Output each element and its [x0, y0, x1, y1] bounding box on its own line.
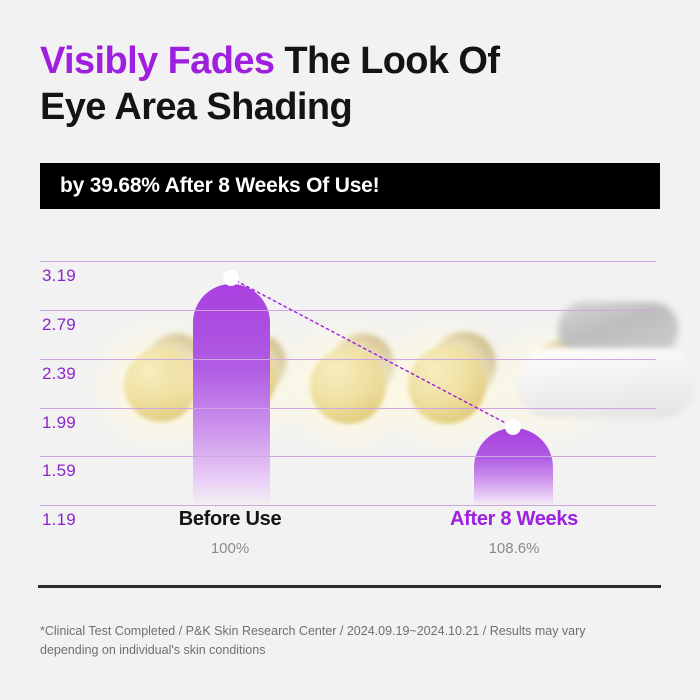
page-title: Visibly Fades The Look Of Eye Area Shadi… [40, 38, 660, 131]
headline-rest-line1: The Look Of [274, 40, 499, 82]
x-axis-label-after: After 8 Weeks [404, 508, 624, 531]
data-point-marker-after [505, 419, 521, 435]
x-axis-label-before: Before Use [120, 508, 340, 531]
x-axis-group-after: After 8 Weeks 108.6% [404, 508, 624, 557]
x-axis-value-before: 100% [120, 540, 340, 557]
y-axis-tick: 1.19 [42, 510, 76, 530]
headline-accent: Visibly Fades [40, 40, 274, 82]
data-point-marker-before [223, 270, 239, 286]
footnote-text: *Clinical Test Completed / P&K Skin Rese… [40, 622, 640, 661]
footer-divider [38, 585, 661, 588]
x-axis-value-after: 108.6% [404, 540, 624, 557]
trend-connector-line [40, 250, 656, 493]
gridline [40, 505, 656, 506]
subtitle-banner: by 39.68% After 8 Weeks Of Use! [40, 163, 660, 209]
x-axis-group-before: Before Use 100% [120, 508, 340, 557]
headline-line2: Eye Area Shading [40, 86, 352, 128]
chart-plot-area: 3.19 2.79 2.39 1.99 1.59 1.19 [40, 250, 656, 493]
x-axis-labels: Before Use 100% After 8 Weeks 108.6% [0, 508, 700, 568]
subtitle-banner-text: by 39.68% After 8 Weeks Of Use! [40, 174, 379, 198]
bar-chart: 3.19 2.79 2.39 1.99 1.59 1.19 [0, 238, 700, 508]
infographic-page: Visibly Fades The Look Of Eye Area Shadi… [0, 0, 700, 700]
